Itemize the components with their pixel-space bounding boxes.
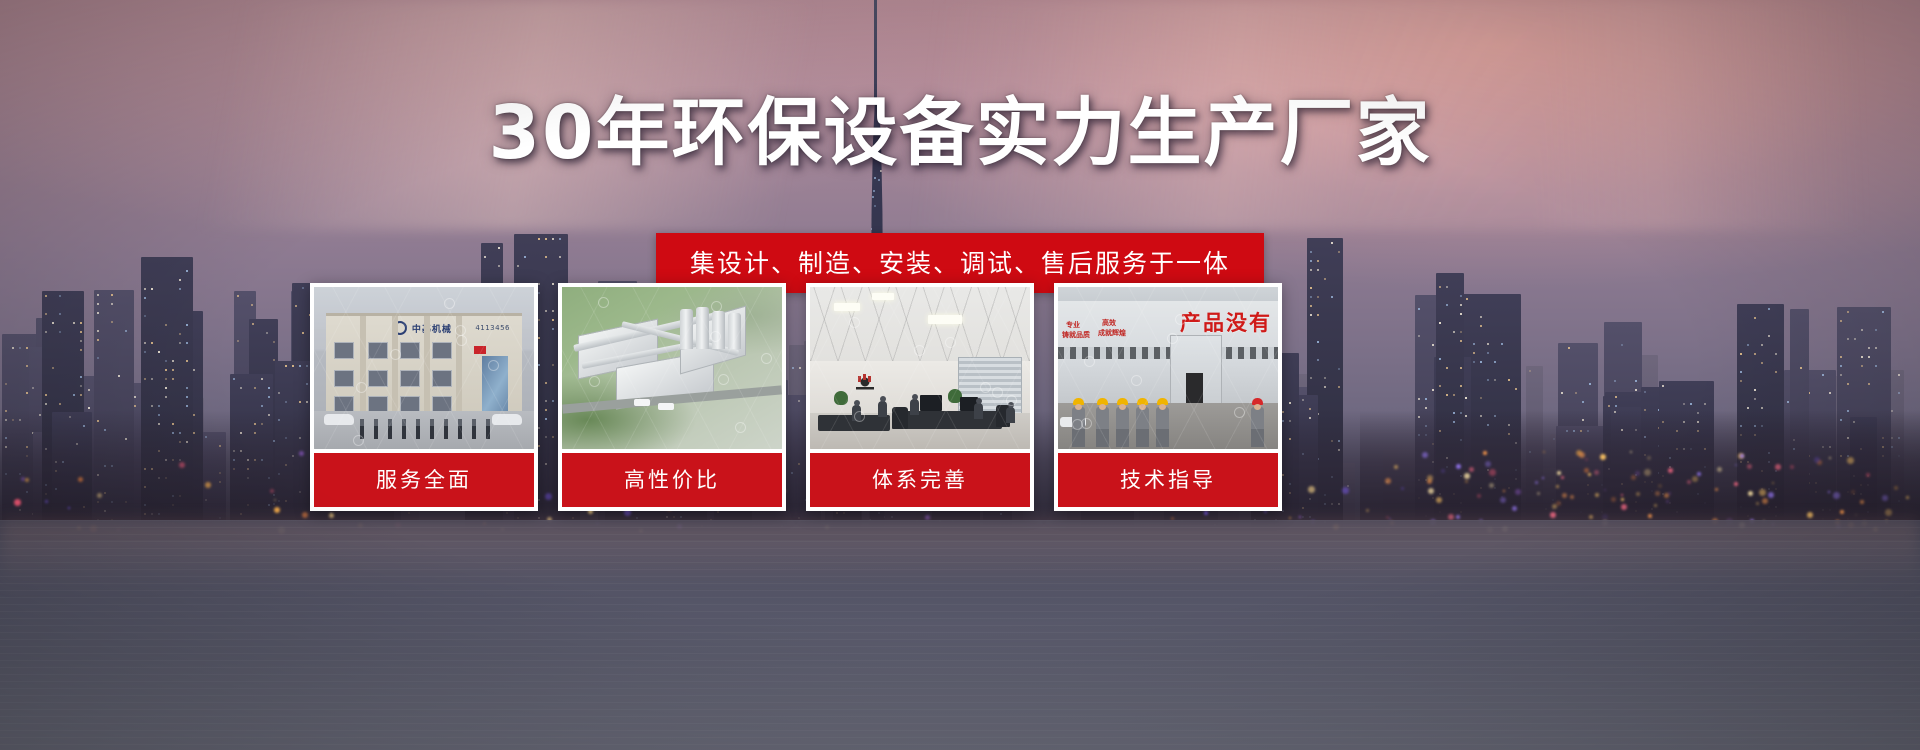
- feature-card[interactable]: 中基机械 4113456: [310, 283, 538, 511]
- card-photo-company-headquarters-building: 中基机械 4113456: [314, 287, 534, 449]
- tower-spire: [874, 0, 877, 100]
- page-title: 30年环保设备实力生产厂家: [0, 96, 1920, 170]
- feature-card[interactable]: 高性价比: [558, 283, 786, 511]
- feature-card-list: 中基机械 4113456: [310, 283, 1562, 511]
- wall-decal-icon: [852, 373, 878, 393]
- water-ripples: [0, 520, 1920, 750]
- card-label: 技术指导: [1058, 453, 1278, 507]
- factory-slogan-left-1: 专业: [1066, 321, 1080, 329]
- card-photo-phone-text: 4113456: [475, 324, 510, 332]
- factory-slogan-left-1b: 铸就品质: [1062, 331, 1090, 339]
- factory-slogan-left-2b: 成就辉煌: [1098, 329, 1126, 337]
- river-water: [0, 520, 1920, 750]
- hero-banner: 30年环保设备实力生产厂家 集设计、制造、安装、调试、售后服务于一体 中基机械 …: [0, 0, 1920, 750]
- card-photo-plant-aerial-view: [562, 287, 782, 449]
- feature-card[interactable]: 体系完善: [806, 283, 1034, 511]
- card-label: 高性价比: [562, 453, 782, 507]
- card-label: 体系完善: [810, 453, 1030, 507]
- card-photo-office-interior-staff: [810, 287, 1030, 449]
- card-photo-sign-text: 中基机械: [412, 322, 452, 335]
- factory-slogan-main: 产品没有: [1180, 307, 1272, 337]
- card-photo-factory-workshop-workers: 产品没有 专业 铸就品质 高效 成就辉煌: [1058, 287, 1278, 449]
- feature-card[interactable]: 产品没有 专业 铸就品质 高效 成就辉煌 技术指导: [1054, 283, 1282, 511]
- factory-slogan-left-2: 高效: [1102, 319, 1116, 327]
- card-label: 服务全面: [314, 453, 534, 507]
